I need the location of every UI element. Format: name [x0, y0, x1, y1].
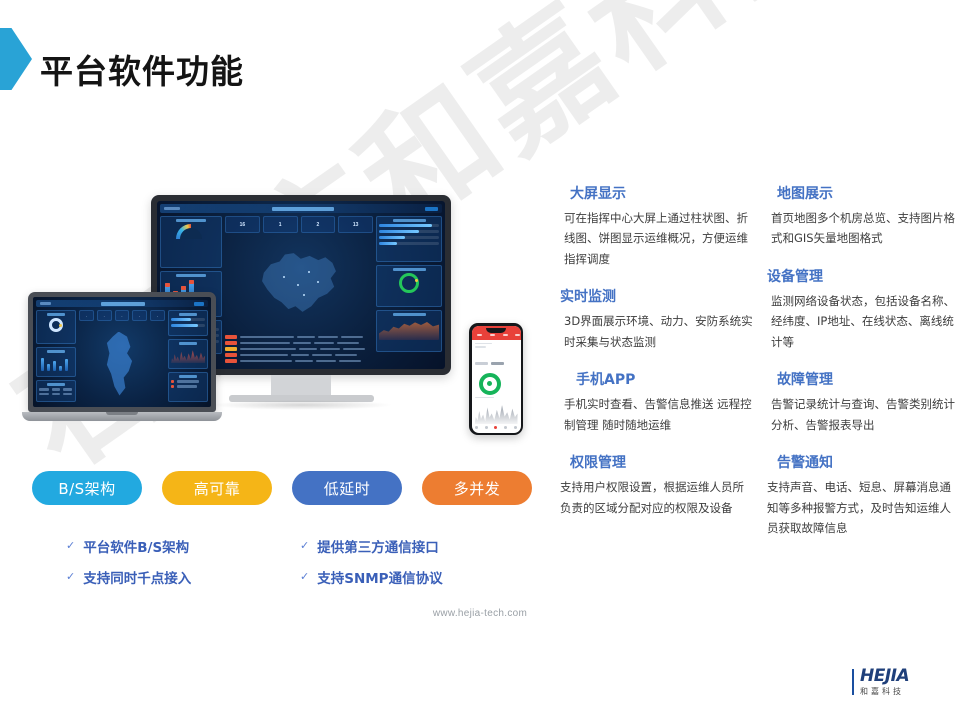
area-chart — [379, 318, 439, 340]
list-item: ✓ 平台软件B/S架构 — [66, 536, 252, 556]
logo-en-text: HEJIA — [860, 668, 909, 685]
feature-body: 手机实时查看、告警信息推送 远程控制管理 随时随地运维 — [560, 394, 753, 435]
phone-notch — [486, 328, 506, 333]
kpi-card: · — [132, 310, 147, 321]
kpi-card: 16 — [225, 216, 260, 233]
mini-table-card — [36, 380, 76, 402]
ring-chart — [49, 318, 63, 332]
checklist-row: ✓ 平台软件B/S架构 ✓ 提供第三方通信接口 — [66, 536, 486, 556]
kpi-card: 13 — [338, 216, 373, 233]
app-tab-icon[interactable] — [490, 334, 495, 336]
app-chip[interactable] — [475, 362, 488, 365]
dashboard-action-button[interactable] — [425, 207, 438, 211]
phone-screen — [472, 326, 521, 433]
feature-body: 告警记录统计与查询、告警类别统计分析、告警报表导出 — [767, 394, 960, 435]
dashboard-title-bar — [272, 207, 334, 211]
kpi-card: 2 — [301, 216, 336, 233]
info-card — [168, 310, 208, 336]
table-row — [225, 347, 373, 351]
table-row — [225, 335, 373, 339]
tabbar-item[interactable] — [504, 426, 507, 429]
table-row — [225, 353, 373, 357]
gauge-chart — [176, 224, 206, 239]
monitor-shadow — [211, 400, 393, 410]
dashboard-left-column — [36, 310, 76, 403]
checklist-label: 支持同时千点接入 — [83, 567, 191, 587]
feature-body: 支持用户权限设置，根据运维人员所负责的区域分配对应的权限及设备 — [560, 477, 753, 518]
feature-column-left: 大屏显示 可在指挥中心大屏上通过柱状图、折线图、饼图显示运维概况，方便运维指挥调… — [560, 183, 753, 556]
device-mockup-group: 16 1 2 13 — [0, 120, 560, 460]
logo-accent-bar — [852, 669, 854, 695]
feature-big-screen-display: 大屏显示 可在指挥中心大屏上通过柱状图、折线图、饼图显示运维概况，方便运维指挥调… — [560, 183, 753, 269]
check-icon: ✓ — [300, 572, 309, 583]
dashboard-center-column: 16 1 2 13 — [225, 216, 373, 365]
feature-heading: 权限管理 — [560, 452, 753, 472]
feature-mobile-app: 手机APP 手机实时查看、告警信息推送 远程控制管理 随时随地运维 — [560, 369, 753, 435]
alarm-table — [225, 335, 373, 365]
title-arrow-icon — [0, 28, 32, 90]
pill-high-concurrency[interactable]: 多并发 — [422, 471, 532, 505]
pill-bs-architecture[interactable]: B/S架构 — [32, 471, 142, 505]
card-heading-bar — [393, 219, 426, 222]
dashboard-center-column: · · · · · — [79, 310, 165, 403]
china-map-widget — [225, 236, 373, 329]
tabbar-item[interactable] — [514, 426, 517, 429]
table-row — [225, 359, 373, 363]
feature-pill-group: B/S架构 高可靠 低延时 多并发 — [32, 471, 532, 505]
province-map-widget — [79, 324, 165, 403]
feature-column-right: 地图展示 首页地图多个机房总览、支持图片格式和GIS矢量地图格式 设备管理 监测… — [767, 183, 960, 556]
feature-body: 监测网络设备状态，包括设备名称、经纬度、IP地址、在线状态、离线统计等 — [767, 291, 960, 352]
feature-heading: 故障管理 — [767, 369, 960, 389]
province-map-shape — [101, 332, 143, 396]
feature-map-display: 地图展示 首页地图多个机房总览、支持图片格式和GIS矢量地图格式 — [767, 183, 960, 249]
bar-chart — [39, 355, 73, 371]
page-title: 平台软件功能 — [40, 45, 244, 93]
check-icon: ✓ — [66, 541, 75, 552]
laptop-lid: · · · · · — [28, 292, 216, 412]
feature-permission-management: 权限管理 支持用户权限设置，根据运维人员所负责的区域分配对应的权限及设备 — [560, 452, 753, 518]
tabbar-item[interactable] — [475, 426, 478, 429]
phone-body — [469, 323, 523, 435]
pill-label: B/S架构 — [58, 478, 115, 499]
app-chip[interactable] — [491, 362, 504, 365]
tabbar-item[interactable] — [485, 426, 488, 429]
mobile-phone-device — [469, 323, 523, 435]
card-heading-bar — [393, 313, 426, 316]
kpi-card: · — [150, 310, 165, 321]
feature-heading: 告警通知 — [767, 452, 960, 472]
app-tabbar — [472, 423, 521, 432]
ranking-card — [376, 216, 442, 262]
list-item: ✓ 支持同时千点接入 — [66, 567, 252, 587]
card-heading-bar — [393, 268, 426, 271]
checklist-label: 提供第三方通信接口 — [317, 536, 439, 556]
dashboard-topbar — [160, 204, 442, 213]
kpi-row: 16 1 2 13 — [225, 216, 373, 233]
app-content — [472, 340, 521, 428]
dashboard-columns: · · · · · — [36, 310, 208, 403]
card-heading-bar — [47, 350, 66, 353]
app-profile-icon[interactable] — [515, 334, 520, 336]
tabbar-item-active[interactable] — [494, 426, 497, 429]
dashboard-right-column — [376, 216, 442, 365]
website-url: www.hejia-tech.com — [0, 608, 960, 619]
check-icon: ✓ — [300, 541, 309, 552]
card-heading-bar — [179, 342, 198, 345]
card-heading-bar — [179, 375, 198, 378]
dashboard-action-button[interactable] — [194, 302, 204, 306]
feature-body: 3D界面展示环境、动力、安防系统实时采集与状态监测 — [560, 311, 753, 352]
dashboard-logo-icon — [40, 302, 51, 305]
logo-cn-text: 和嘉科技 — [860, 688, 909, 696]
ring-card — [36, 310, 76, 344]
feature-body: 支持声音、电话、短息、屏幕消息通知等多种报警方式，及时告知运维人员获取故障信息 — [767, 477, 960, 538]
china-map-shape — [255, 248, 343, 318]
feature-device-management: 设备管理 监测网络设备状态，包括设备名称、经纬度、IP地址、在线状态、离线统计等 — [767, 266, 960, 352]
dashboard-topbar — [36, 300, 208, 307]
feature-heading: 设备管理 — [767, 266, 960, 286]
kpi-card: 1 — [263, 216, 298, 233]
feature-alarm-notification: 告警通知 支持声音、电话、短息、屏幕消息通知等多种报警方式，及时告知运维人员获取… — [767, 452, 960, 538]
pill-high-reliability[interactable]: 高可靠 — [162, 471, 272, 505]
feature-body: 首页地图多个机房总览、支持图片格式和GIS矢量地图格式 — [767, 208, 960, 249]
app-menu-icon[interactable] — [477, 334, 482, 336]
laptop-device: · · · · · — [22, 292, 222, 432]
feature-fault-management: 故障管理 告警记录统计与查询、告警类别统计分析、告警报表导出 — [767, 369, 960, 435]
kpi-card: · — [97, 310, 112, 321]
laptop-screen: · · · · · — [33, 297, 211, 407]
checklist: ✓ 平台软件B/S架构 ✓ 提供第三方通信接口 ✓ 支持同时千点接入 ✓ 支持S… — [66, 536, 486, 598]
company-logo: HEJIA 和嘉科技 — [852, 668, 909, 696]
pill-label: 低延时 — [324, 478, 371, 499]
gauge-card — [160, 216, 222, 268]
spike-chart — [171, 347, 205, 363]
feature-heading: 实时监测 — [560, 286, 753, 306]
feature-heading: 手机APP — [560, 369, 753, 389]
card-heading-bar — [47, 313, 66, 316]
slide-root: 石家庄和嘉科技有限公司 平台软件功能 — [0, 0, 960, 720]
feature-columns: 大屏显示 可在指挥中心大屏上通过柱状图、折线图、饼图显示运维概况，方便运维指挥调… — [560, 183, 960, 556]
dashboard-right-column — [168, 310, 208, 403]
feature-text-area: 大屏显示 可在指挥中心大屏上通过柱状图、折线图、饼图显示运维概况，方便运维指挥调… — [560, 183, 960, 556]
logo-text: HEJIA 和嘉科技 — [860, 668, 909, 696]
checklist-label: 支持SNMP通信协议 — [317, 567, 442, 587]
card-heading-bar — [176, 274, 207, 277]
pill-low-latency[interactable]: 低延时 — [292, 471, 402, 505]
list-item: ✓ 支持SNMP通信协议 — [300, 567, 486, 587]
app-tab-icon[interactable] — [503, 334, 508, 336]
checklist-label: 平台软件B/S架构 — [83, 536, 189, 556]
ring-chart — [399, 273, 419, 293]
monitor-stand-neck — [271, 375, 331, 397]
card-heading-bar — [176, 219, 207, 222]
dashboard-title-bar — [101, 302, 145, 306]
table-row — [225, 341, 373, 345]
card-heading-bar — [47, 383, 66, 386]
feature-heading: 地图展示 — [767, 183, 960, 203]
app-line-chart — [475, 400, 518, 424]
kpi-row: · · · · · — [79, 310, 165, 321]
pill-label: 多并发 — [454, 478, 501, 499]
ring-card — [376, 265, 442, 307]
dashboard-logo-icon — [164, 207, 180, 210]
area-chart-card — [376, 310, 442, 352]
spike-chart-card — [168, 339, 208, 369]
checklist-row: ✓ 支持同时千点接入 ✓ 支持SNMP通信协议 — [66, 567, 486, 587]
feature-heading: 大屏显示 — [560, 183, 753, 203]
kpi-card: · — [115, 310, 130, 321]
card-heading-bar — [179, 313, 198, 316]
laptop-dashboard: · · · · · — [33, 297, 211, 407]
feature-realtime-monitoring: 实时监测 3D界面展示环境、动力、安防系统实时采集与状态监测 — [560, 286, 753, 352]
bar-chart-card — [36, 347, 76, 377]
list-item: ✓ 提供第三方通信接口 — [300, 536, 486, 556]
kpi-card: · — [79, 310, 94, 321]
feature-body: 可在指挥中心大屏上通过柱状图、折线图、饼图显示运维概况，方便运维指挥调度 — [560, 208, 753, 269]
pill-label: 高可靠 — [194, 478, 241, 499]
app-donut-chart — [479, 373, 501, 395]
laptop-notch — [106, 412, 138, 415]
alarm-list-card — [168, 372, 208, 402]
check-icon: ✓ — [66, 572, 75, 583]
